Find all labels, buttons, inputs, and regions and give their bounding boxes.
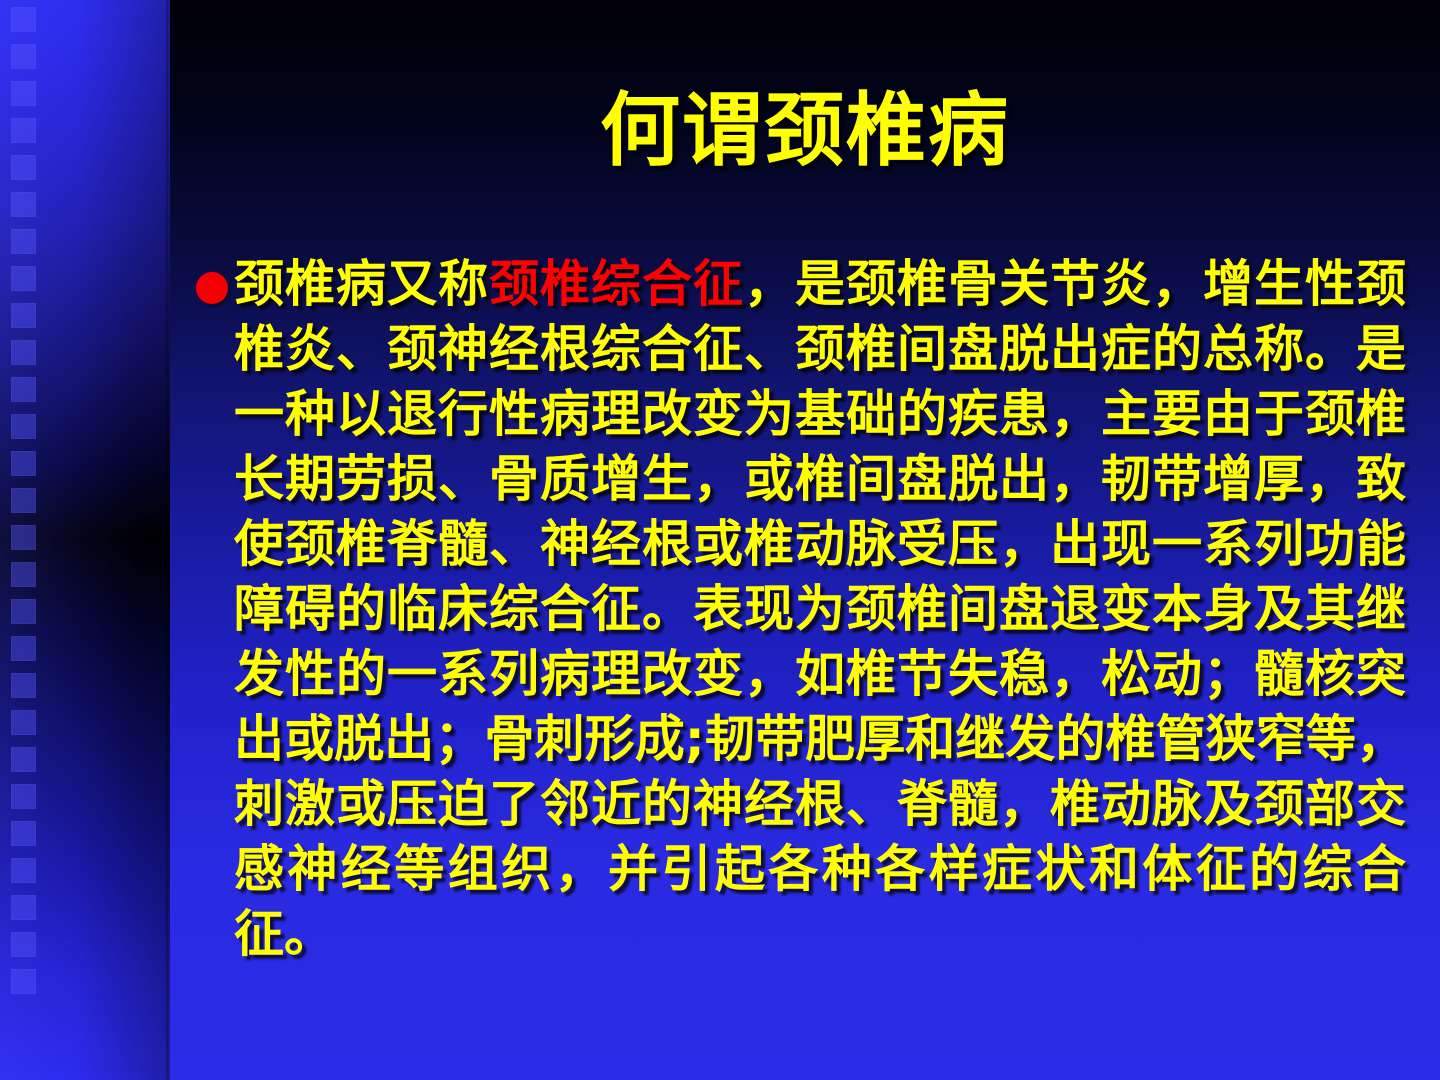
sidebar-square [11, 414, 36, 439]
sidebar-square [11, 747, 36, 772]
bullet-paragraph-text: 颈椎病又称颈椎综合征，是颈椎骨关节炎，增生性颈椎炎、颈神经根综合征、颈椎间盘脱出… [234, 252, 1406, 967]
body-text-segment-1: 颈椎综合征 [489, 255, 744, 313]
sidebar-square [11, 858, 36, 883]
sidebar-square [11, 303, 36, 328]
body-text-segment-0: 颈椎病又称 [234, 255, 489, 313]
sidebar-square [11, 821, 36, 846]
sidebar-square [11, 673, 36, 698]
sidebar-square [11, 710, 36, 735]
decorative-sidebar-band [0, 0, 170, 1080]
sidebar-square [11, 81, 36, 106]
sidebar-square [11, 636, 36, 661]
sidebar-square [11, 340, 36, 365]
sidebar-square [11, 266, 36, 291]
sidebar-square [11, 155, 36, 180]
sidebar-square [11, 525, 36, 550]
sidebar-square [11, 451, 36, 476]
sidebar-square [11, 118, 36, 143]
bullet-marker-circle-icon [196, 272, 228, 304]
sidebar-square [11, 229, 36, 254]
sidebar-square [11, 784, 36, 809]
sidebar-square [11, 895, 36, 920]
bullet-list-item: 颈椎病又称颈椎综合征，是颈椎骨关节炎，增生性颈椎炎、颈神经根综合征、颈椎间盘脱出… [196, 252, 1406, 967]
sidebar-square [11, 44, 36, 69]
sidebar-square [11, 932, 36, 957]
sidebar-square [11, 599, 36, 624]
body-content-block: 颈椎病又称颈椎综合征，是颈椎骨关节炎，增生性颈椎炎、颈神经根综合征、颈椎间盘脱出… [196, 252, 1406, 967]
body-text-segment-2: ，是颈椎骨关节炎，增生性颈椎炎、颈神经根综合征、颈椎间盘脱出症的总称。是一种以退… [234, 255, 1406, 963]
sidebar-square [11, 377, 36, 402]
sidebar-square [11, 969, 36, 994]
sidebar-square [11, 192, 36, 217]
slide-canvas: 何谓颈椎病 颈椎病又称颈椎综合征，是颈椎骨关节炎，增生性颈椎炎、颈神经根综合征、… [0, 0, 1440, 1080]
sidebar-square [11, 488, 36, 513]
sidebar-square [11, 562, 36, 587]
slide-title: 何谓颈椎病 [170, 88, 1440, 174]
sidebar-square [11, 7, 36, 32]
